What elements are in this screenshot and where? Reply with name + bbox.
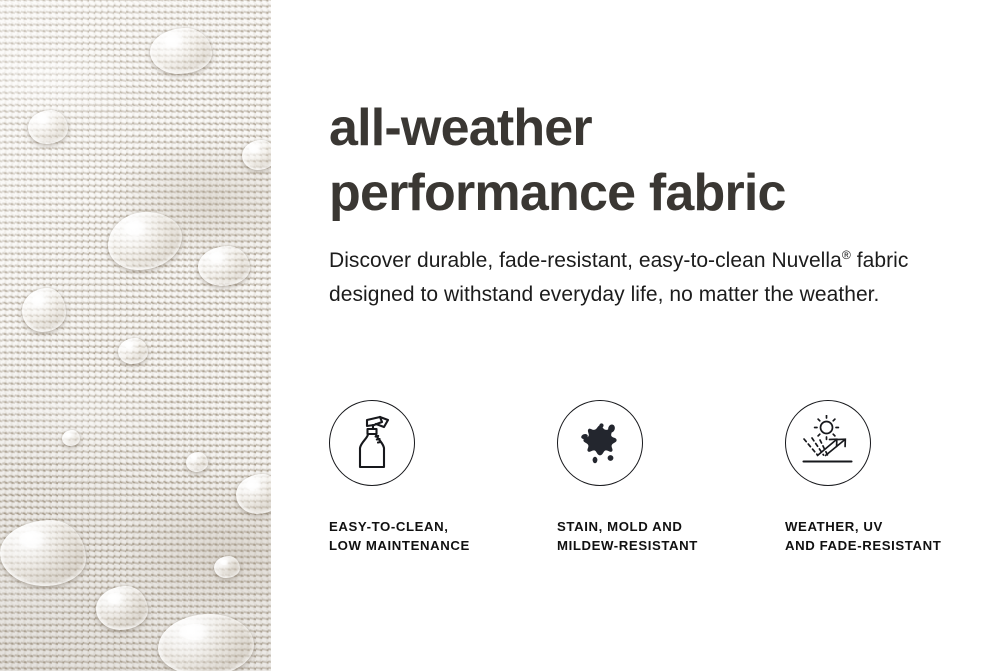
- feature-list: EASY-TO-CLEAN, LOW MAINTENANCE STAIN, MO…: [329, 400, 1005, 580]
- water-droplet: [198, 246, 250, 286]
- fabric-photo-panel: [0, 0, 271, 671]
- water-droplet: [118, 338, 148, 364]
- water-droplet: [0, 520, 86, 586]
- water-droplet: [150, 28, 212, 74]
- page-title: all-weather performance fabric: [329, 96, 989, 226]
- water-droplet: [214, 556, 240, 578]
- water-droplet: [96, 586, 148, 630]
- feature-caption: EASY-TO-CLEAN, LOW MAINTENANCE: [329, 517, 529, 555]
- water-droplet: [22, 288, 66, 332]
- spray-bottle-icon: [329, 400, 415, 486]
- all-weather-fabric-promo-banner: all-weather performance fabric Discover …: [0, 0, 1005, 671]
- water-droplet: [186, 452, 208, 472]
- registered-trademark-symbol: ®: [842, 248, 851, 262]
- feature-item-easy-to-clean: EASY-TO-CLEAN, LOW MAINTENANCE: [329, 400, 529, 555]
- water-droplet: [62, 430, 80, 446]
- feature-item-weather-uv-resistant: WEATHER, UV AND FADE-RESISTANT: [785, 400, 985, 555]
- sun-uv-reflect-icon: [785, 400, 871, 486]
- description-line-3: no matter the weather.: [669, 283, 879, 306]
- stain-splatter-icon: [557, 400, 643, 486]
- promo-description: Discover durable, fade-resistant, easy-t…: [329, 244, 969, 312]
- promo-content-panel: all-weather performance fabric Discover …: [271, 0, 1005, 671]
- water-droplet: [28, 110, 68, 144]
- feature-item-stain-resistant: STAIN, MOLD AND MILDEW-RESISTANT: [557, 400, 757, 555]
- brand-name: Nuvella: [771, 249, 841, 272]
- feature-caption: WEATHER, UV AND FADE-RESISTANT: [785, 517, 985, 555]
- water-droplet: [242, 140, 271, 170]
- feature-caption: STAIN, MOLD AND MILDEW-RESISTANT: [557, 517, 757, 555]
- description-line-1: Discover durable, fade-resistant, easy-t…: [329, 249, 766, 272]
